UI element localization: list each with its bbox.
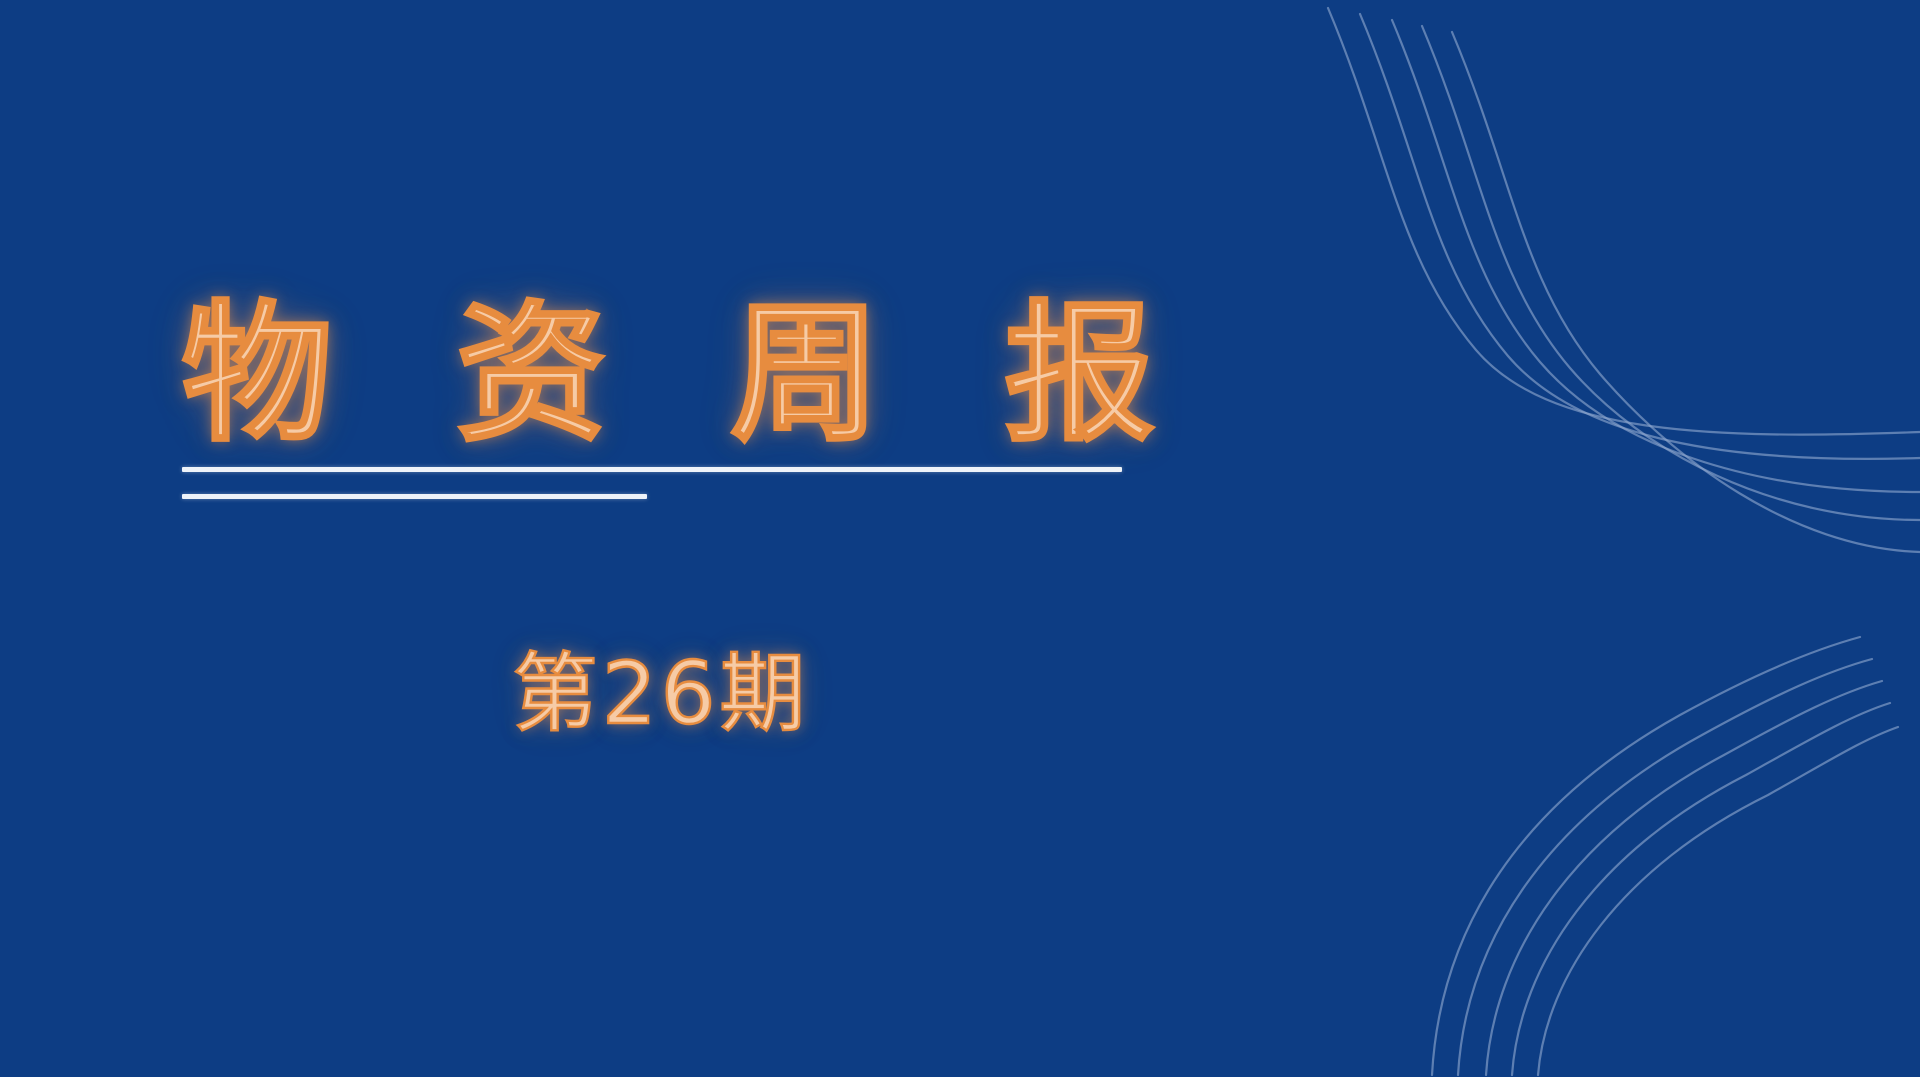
issue-subtitle: 第26期 — [512, 645, 809, 744]
slide-background — [0, 0, 1920, 1077]
title-slide: 物 资 周 报 第26期 — [0, 0, 1920, 1077]
title-underline-short — [182, 494, 647, 499]
title-block: 物 资 周 报 — [150, 296, 1150, 499]
title-underlines — [182, 467, 1150, 499]
page-title: 物 资 周 报 — [182, 296, 1150, 455]
title-underline-long — [182, 467, 1122, 472]
